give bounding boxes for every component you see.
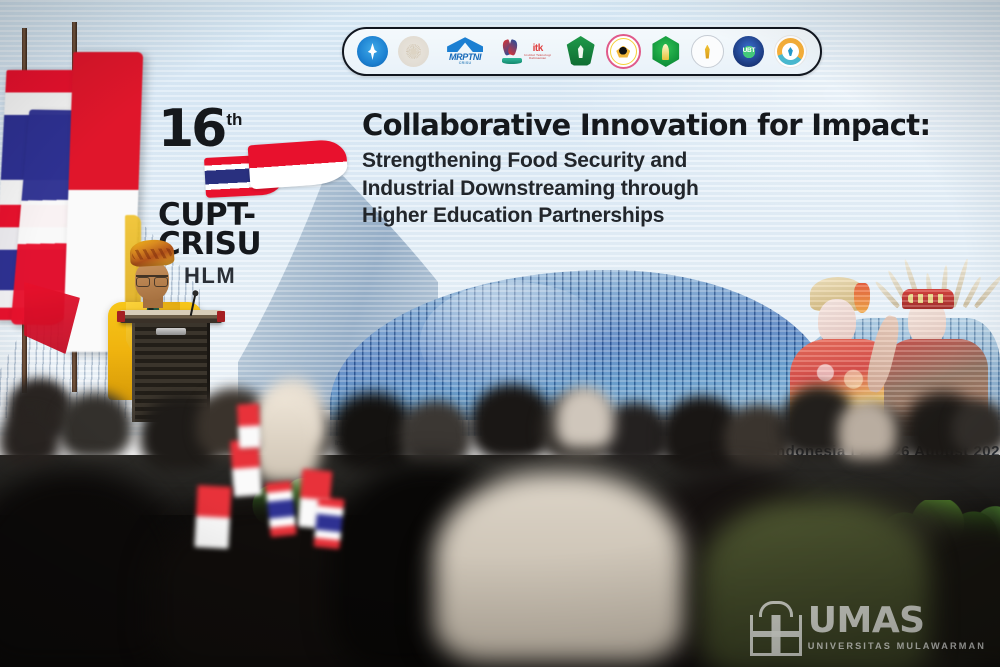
edition-number-row: 16 th <box>158 108 348 151</box>
umas-institution: UNIVERSITAS MULAWARMAN <box>808 642 986 651</box>
mrptni-subtext: CRISU <box>459 62 472 66</box>
edition-ordinal-suffix: th <box>226 110 242 130</box>
partner-university-logo-bar: MRPTNI CRISU itk Institut Teknologi Kali… <box>342 27 822 76</box>
table-flag-cloth <box>265 481 297 537</box>
umas-watermark-text: UMAS UNIVERSITAS MULAWARMAN <box>808 603 986 651</box>
event-subtitle-line3: Higher Education Partnerships <box>362 202 962 230</box>
dual-flag-graphic <box>205 140 347 196</box>
itk-logo-icon: itk Institut Teknologi Kalimantan <box>502 36 556 67</box>
ubt-logo-icon: UBT <box>733 36 764 67</box>
untag-green-logo-icon <box>650 36 681 67</box>
itk-book-shape <box>502 58 522 64</box>
event-subtitle-line1: Strengthening Food Security and <box>362 147 962 175</box>
table-flag <box>194 485 231 549</box>
itk-bird-shape <box>502 40 518 64</box>
table-flag <box>313 497 344 549</box>
umas-watermark: UMAS UNIVERSITAS MULAWARMAN <box>747 601 986 653</box>
unpad-red-logo-icon <box>606 34 641 69</box>
lectern-plaque <box>156 328 186 335</box>
unmul-green-logo-icon <box>565 36 596 67</box>
speaker-batik-headwear <box>129 239 174 267</box>
audience-member <box>0 410 60 466</box>
table-flag-cloth <box>194 485 231 549</box>
itk-wordmark-group: itk Institut Teknologi Kalimantan <box>520 44 556 60</box>
screenshot-root: MRPTNI CRISU itk Institut Teknologi Kali… <box>0 0 1000 667</box>
indonesia-flag-graphic <box>248 139 349 190</box>
borneo-orange-logo-icon <box>774 35 807 68</box>
mrptni-roof-shape <box>447 37 483 52</box>
audience-member <box>838 400 896 458</box>
audience-member-light-shirt <box>434 472 684 662</box>
umas-logo-icon <box>747 601 799 653</box>
audience-member <box>556 386 614 448</box>
faint-emblem-logo-icon <box>398 36 429 67</box>
audience-member <box>952 400 1000 454</box>
unpad-ring <box>610 38 637 65</box>
audience-member <box>400 400 472 466</box>
meeting-type-label: HLM <box>184 263 348 289</box>
event-headline: Collaborative Innovation for Impact: <box>362 110 962 142</box>
ubt-wordmark: UBT <box>743 48 755 55</box>
audience-member <box>58 392 132 458</box>
mrptni-logo-icon: MRPTNI CRISU <box>438 36 492 67</box>
table-flag-cloth <box>313 497 344 549</box>
speaker-eyeglasses <box>136 275 168 285</box>
event-title-block: Collaborative Innovation for Impact: Str… <box>362 110 962 230</box>
lectern-top <box>120 310 222 323</box>
event-subtitle-line2: Industrial Downstreaming through <box>362 175 962 203</box>
table-flag <box>237 403 261 448</box>
itk-subtext: Institut Teknologi Kalimantan <box>520 54 556 60</box>
unmul-white-logo-icon <box>691 35 724 68</box>
table-flag-cloth <box>237 403 261 448</box>
itk-wordmark: itk <box>520 44 556 54</box>
tut-wuri-handayani-logo-icon <box>357 36 388 67</box>
umas-brand: UMAS <box>808 603 986 639</box>
table-flag <box>265 481 297 537</box>
dancer-2-headband <box>902 289 954 309</box>
